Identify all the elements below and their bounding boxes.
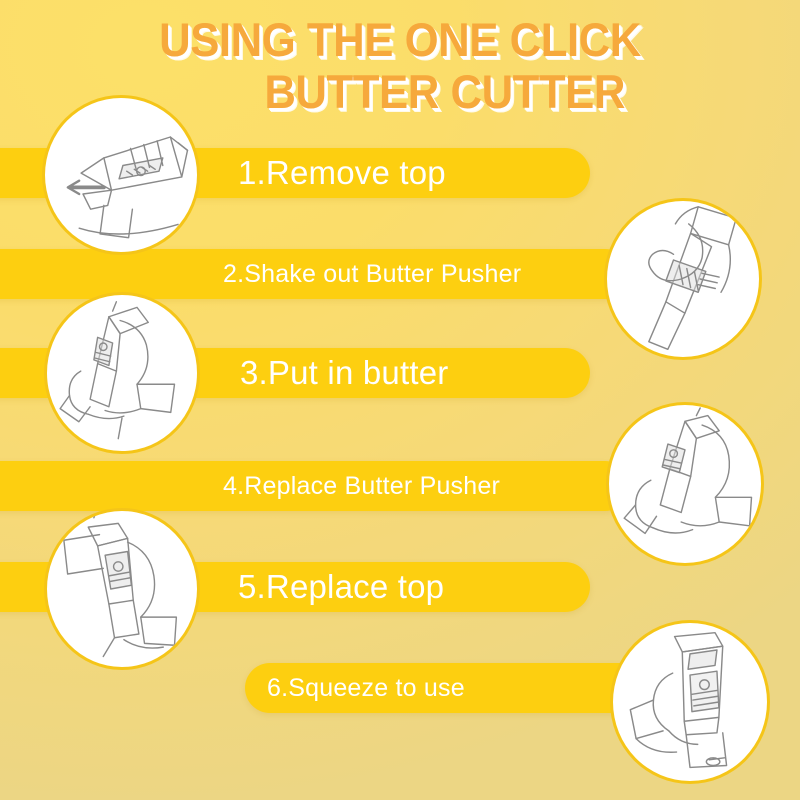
step-label-3: 3.Put in butter	[240, 354, 448, 392]
step-illustration-4	[606, 402, 764, 566]
hands-replacing-pusher-icon	[609, 405, 761, 563]
step-illustration-5	[44, 508, 200, 670]
hand-replacing-top-icon	[47, 511, 197, 667]
hands-inserting-butter-icon	[47, 295, 197, 451]
step-label-1: 1.Remove top	[238, 154, 446, 192]
hand-shaking-out-pusher-icon	[607, 201, 759, 357]
step-illustration-3	[44, 292, 200, 454]
hand-squeezing-cutter-icon	[613, 623, 767, 781]
step-illustration-6	[610, 620, 770, 784]
step-label-5: 5.Replace top	[238, 568, 444, 606]
step-pill-6: 6.Squeeze to use	[245, 663, 652, 713]
step-label-2: 2.Shake out Butter Pusher	[223, 260, 521, 289]
step-illustration-2	[604, 198, 762, 360]
step-label-6: 6.Squeeze to use	[267, 674, 465, 703]
hand-removing-top-icon	[45, 98, 197, 252]
step-illustration-1	[42, 95, 200, 255]
step-label-4: 4.Replace Butter Pusher	[223, 472, 500, 501]
step-pill-2: 2.Shake out Butter Pusher	[0, 249, 630, 299]
step-pill-4: 4.Replace Butter Pusher	[0, 461, 630, 511]
infographic-poster: USING THE ONE CLICK BUTTER CUTTER 1.Remo…	[0, 0, 800, 800]
title-line-1: USING THE ONE CLICK	[28, 14, 772, 66]
